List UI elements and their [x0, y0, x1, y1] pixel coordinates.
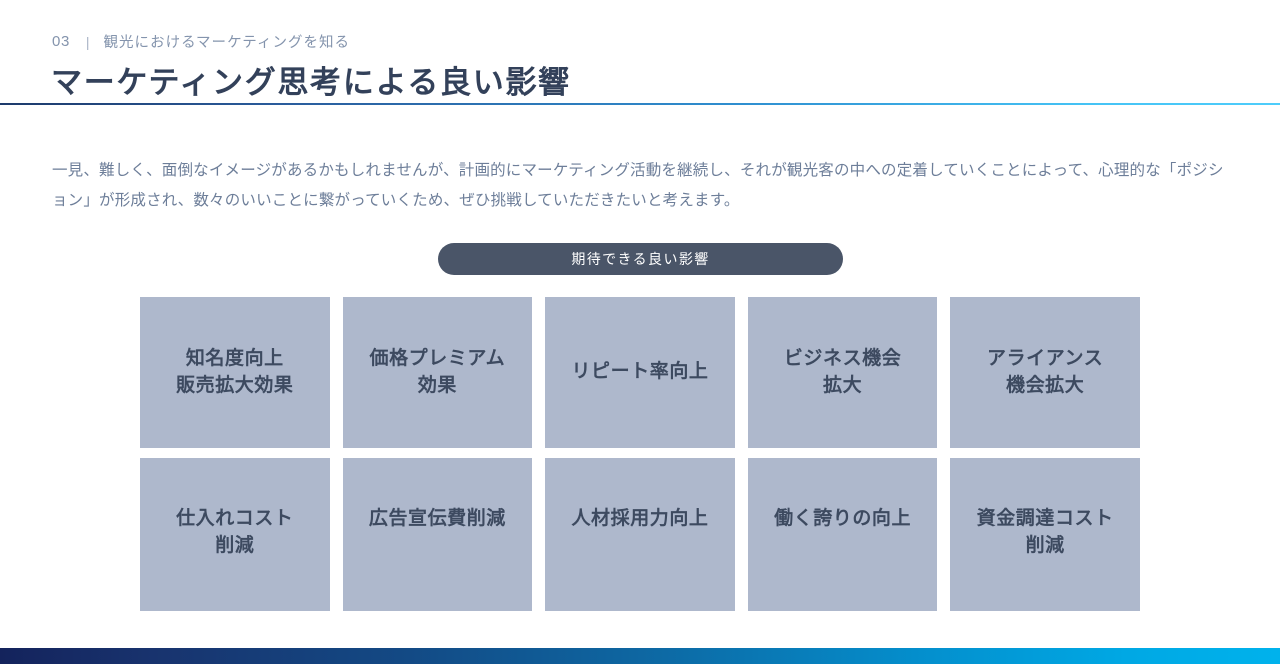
page-title: マーケティング思考による良い影響: [51, 57, 571, 102]
benefit-card-label: 広告宣伝費削減: [369, 506, 506, 533]
benefit-card-label: 人材採用力向上: [571, 506, 708, 533]
benefit-card-label: 仕入れコスト 削減: [176, 506, 293, 560]
status-badge: 期待できる良い影響: [438, 243, 843, 275]
slide-header: 03 | 観光におけるマーケティングを知る マーケティング思考による良い影響: [0, 0, 1280, 104]
benefit-card: ビジネス機会 拡大: [748, 297, 938, 448]
benefit-card: 人材採用力向上: [545, 458, 735, 611]
breadcrumb: 03 | 観光におけるマーケティングを知る: [52, 31, 350, 52]
card-row-1: 知名度向上 販売拡大効果 価格プレミアム 効果 リピート率向上 ビジネス機会 拡…: [140, 297, 1140, 448]
section-number: 03: [52, 33, 70, 50]
footer-accent-bar: [0, 648, 1280, 664]
benefit-card-label: 働く誇りの向上: [774, 506, 911, 533]
benefit-card-grid: 知名度向上 販売拡大効果 価格プレミアム 効果 リピート率向上 ビジネス機会 拡…: [140, 297, 1140, 611]
benefit-card: アライアンス 機会拡大: [950, 297, 1140, 448]
benefit-card: 価格プレミアム 効果: [343, 297, 533, 448]
breadcrumb-separator: |: [86, 34, 90, 50]
lead-paragraph: 一見、難しく、面倒なイメージがあるかもしれませんが、計画的にマーケティング活動を…: [52, 156, 1232, 216]
section-name: 観光におけるマーケティングを知る: [104, 31, 351, 52]
status-badge-label: 期待できる良い影響: [571, 249, 709, 269]
benefit-card-label: 資金調達コスト 削減: [977, 506, 1114, 560]
benefit-card-label: アライアンス 機会拡大: [987, 346, 1103, 400]
benefit-card: 仕入れコスト 削減: [140, 458, 330, 611]
benefit-card: 働く誇りの向上: [748, 458, 938, 611]
benefit-card: 知名度向上 販売拡大効果: [140, 297, 330, 448]
benefit-card-label: リピート率向上: [571, 359, 708, 386]
card-row-2: 仕入れコスト 削減 広告宣伝費削減 人材採用力向上 働く誇りの向上 資金調達コス…: [140, 458, 1140, 611]
benefit-card-label: 価格プレミアム 効果: [370, 346, 506, 400]
benefit-card-label: 知名度向上 販売拡大効果: [176, 346, 293, 400]
benefit-card-label: ビジネス機会 拡大: [784, 346, 901, 400]
slide: 03 | 観光におけるマーケティングを知る マーケティング思考による良い影響 一…: [0, 0, 1280, 664]
benefit-card: リピート率向上: [545, 297, 735, 448]
header-divider: [0, 103, 1280, 105]
benefit-card: 広告宣伝費削減: [343, 458, 533, 611]
benefit-card: 資金調達コスト 削減: [950, 458, 1140, 611]
